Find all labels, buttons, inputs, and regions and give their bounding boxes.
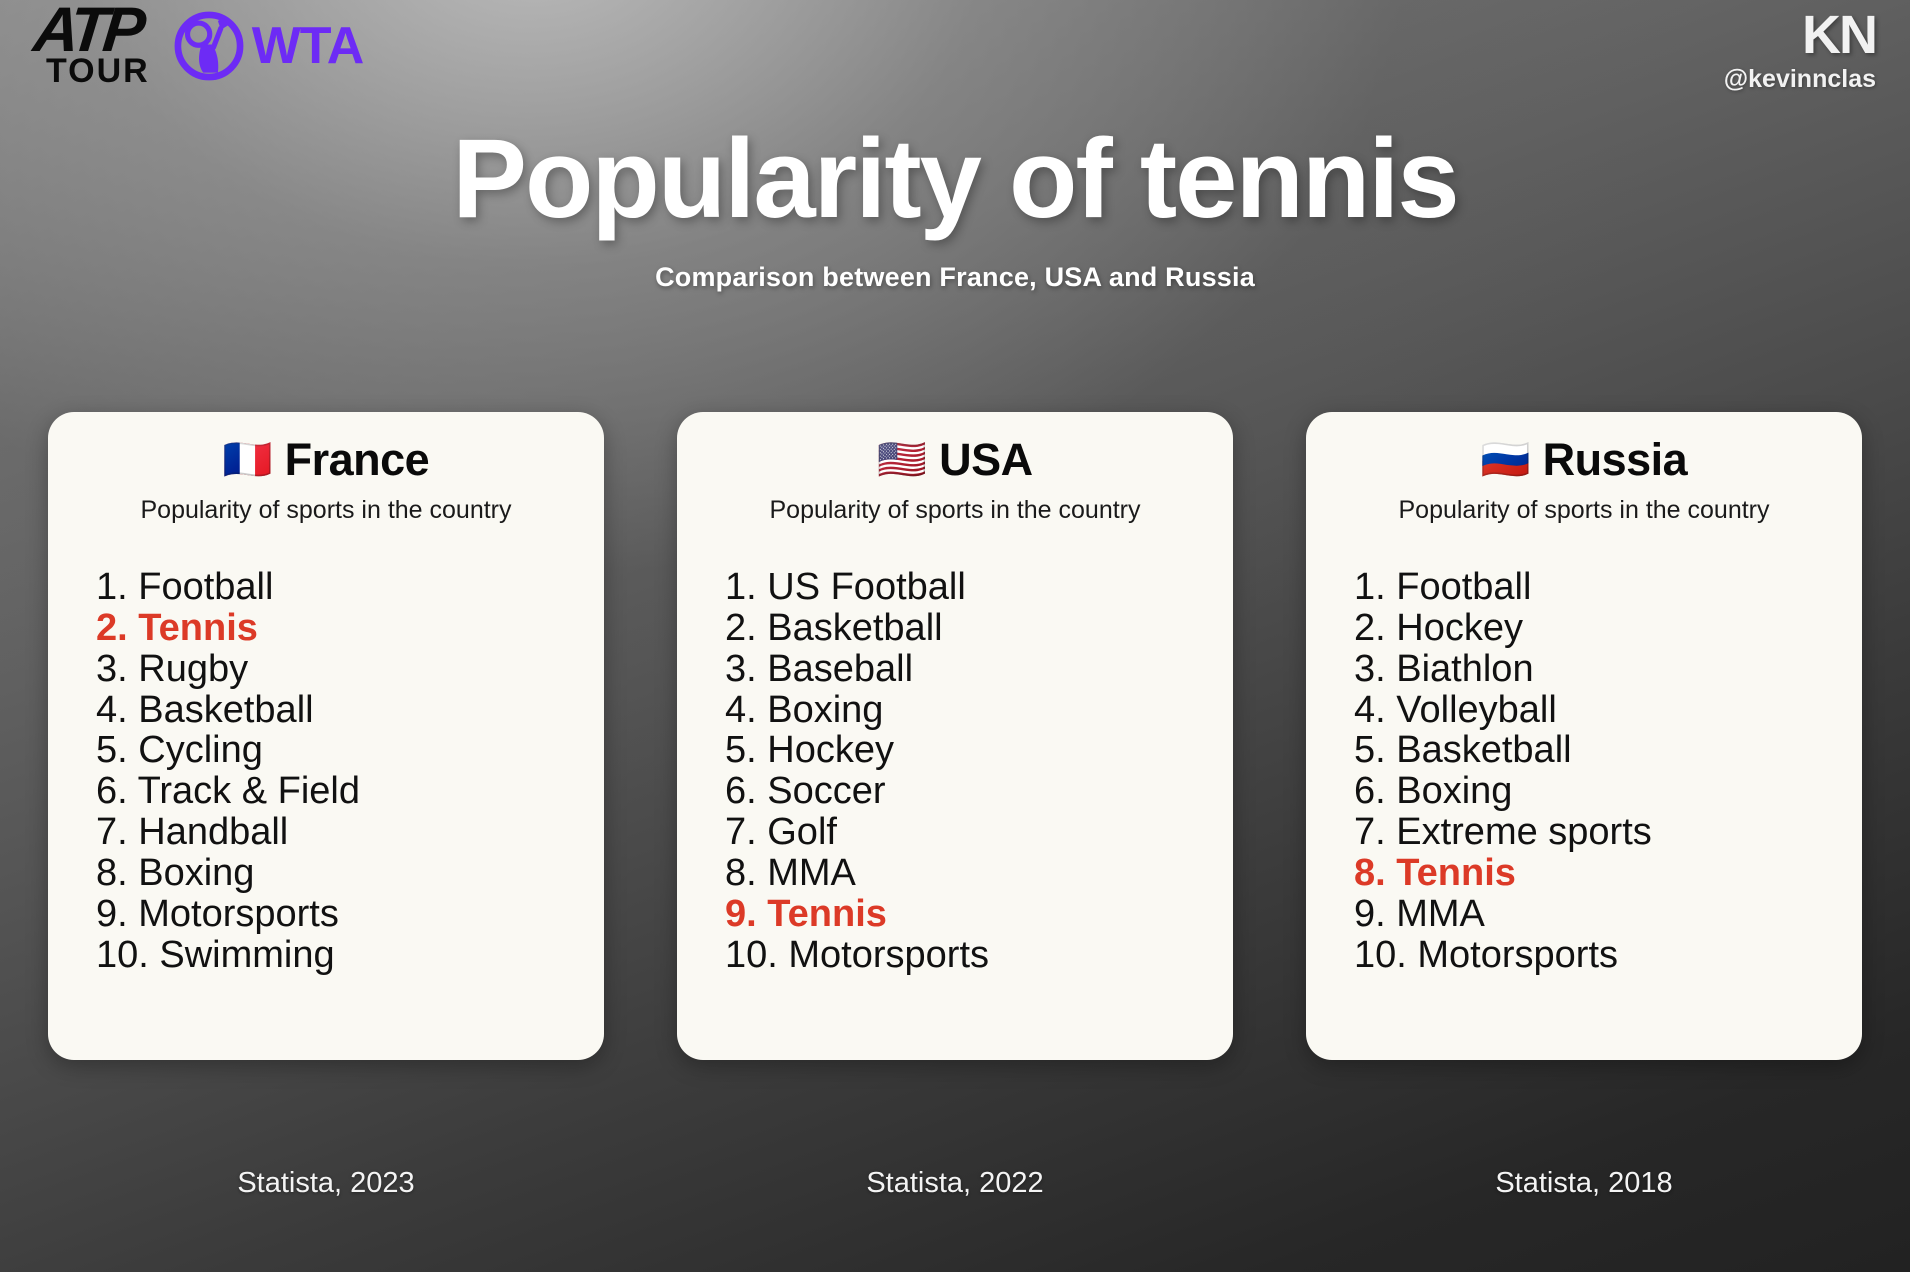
country-name: USA — [939, 434, 1033, 486]
card-subtitle: Popularity of sports in the country — [74, 496, 578, 525]
sport-ranking-list: 1. US Football2. Basketball3. Baseball4.… — [703, 567, 1207, 975]
flag-usa-icon: 🇺🇸 — [877, 440, 927, 480]
card-header: 🇺🇸USA — [703, 434, 1207, 486]
list-item: 4. Basketball — [96, 690, 578, 731]
source-label: Statista, 2022 — [677, 1167, 1233, 1200]
atp-logo-wordmark: ATP — [31, 6, 142, 55]
list-item: 10. Swimming — [96, 935, 578, 976]
list-item: 1. Football — [1354, 567, 1836, 608]
list-item: 2. Basketball — [725, 608, 1207, 649]
wta-logo-wordmark: WTA — [252, 16, 364, 76]
list-item: 1. Football — [96, 567, 578, 608]
list-item: 3. Biathlon — [1354, 649, 1836, 690]
list-item: 2. Hockey — [1354, 608, 1836, 649]
sport-ranking-list: 1. Football2. Tennis3. Rugby4. Basketbal… — [74, 567, 578, 975]
country-card-france: 🇫🇷FrancePopularity of sports in the coun… — [48, 412, 604, 1060]
list-item: 3. Baseball — [725, 649, 1207, 690]
list-item: 5. Hockey — [725, 730, 1207, 771]
list-item-highlighted: 8. Tennis — [1354, 853, 1836, 894]
list-item: 7. Golf — [725, 812, 1207, 853]
atp-tour-logo-icon: ATP TOUR — [24, 6, 150, 85]
sport-ranking-list: 1. Football2. Hockey3. Biathlon4. Volley… — [1332, 567, 1836, 975]
flag-france-icon: 🇫🇷 — [223, 440, 273, 480]
list-item-highlighted: 2. Tennis — [96, 608, 578, 649]
list-item: 7. Extreme sports — [1354, 812, 1836, 853]
source-row: Statista, 2023Statista, 2022Statista, 20… — [48, 1167, 1862, 1200]
card-subtitle: Popularity of sports in the country — [1332, 496, 1836, 525]
list-item: 6. Soccer — [725, 771, 1207, 812]
list-item: 9. MMA — [1354, 894, 1836, 935]
list-item: 8. MMA — [725, 853, 1207, 894]
list-item: 10. Motorsports — [725, 935, 1207, 976]
list-item: 10. Motorsports — [1354, 935, 1836, 976]
country-card-usa: 🇺🇸USAPopularity of sports in the country… — [677, 412, 1233, 1060]
list-item-highlighted: 9. Tennis — [725, 894, 1207, 935]
card-header: 🇫🇷France — [74, 434, 578, 486]
slide-background: ATP TOUR WTA KN @kevinnclas Popularity o… — [0, 0, 1910, 1272]
country-card-russia: 🇷🇺RussiaPopularity of sports in the coun… — [1306, 412, 1862, 1060]
list-item: 7. Handball — [96, 812, 578, 853]
source-label: Statista, 2018 — [1306, 1167, 1862, 1200]
list-item: 5. Basketball — [1354, 730, 1836, 771]
card-subtitle: Popularity of sports in the country — [703, 496, 1207, 525]
list-item: 8. Boxing — [96, 853, 578, 894]
country-name: Russia — [1543, 434, 1688, 486]
list-item: 6. Boxing — [1354, 771, 1836, 812]
list-item: 4. Volleyball — [1354, 690, 1836, 731]
author-watermark: KN @kevinnclas — [1724, 8, 1876, 94]
list-item: 3. Rugby — [96, 649, 578, 690]
page-subtitle: Comparison between France, USA and Russi… — [0, 262, 1910, 293]
flag-russia-icon: 🇷🇺 — [1481, 440, 1531, 480]
list-item: 9. Motorsports — [96, 894, 578, 935]
source-label: Statista, 2023 — [48, 1167, 604, 1200]
wta-logo-icon: WTA — [172, 9, 364, 83]
list-item: 4. Boxing — [725, 690, 1207, 731]
tour-logos: ATP TOUR WTA — [24, 6, 363, 85]
watermark-handle: @kevinnclas — [1724, 65, 1876, 94]
country-cards: 🇫🇷FrancePopularity of sports in the coun… — [48, 412, 1862, 1060]
page-title: Popularity of tennis — [0, 120, 1910, 238]
list-item: 6. Track & Field — [96, 771, 578, 812]
list-item: 5. Cycling — [96, 730, 578, 771]
wta-player-circle-icon — [172, 9, 246, 83]
card-header: 🇷🇺Russia — [1332, 434, 1836, 486]
title-block: Popularity of tennis Comparison between … — [0, 120, 1910, 293]
country-name: France — [285, 434, 430, 486]
watermark-initials: KN — [1724, 8, 1876, 62]
list-item: 1. US Football — [725, 567, 1207, 608]
